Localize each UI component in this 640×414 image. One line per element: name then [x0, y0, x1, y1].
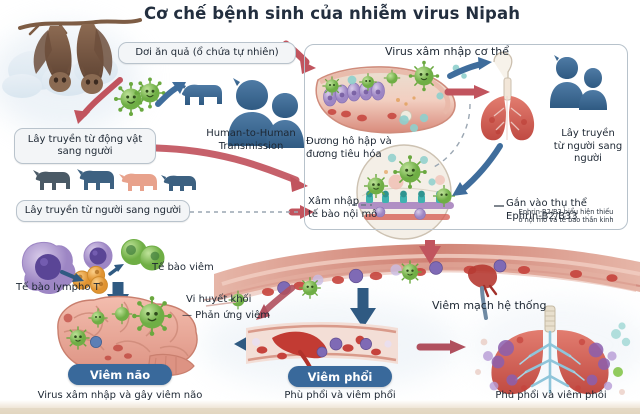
farm-animal-silhouettes — [33, 169, 196, 191]
lungs-icon — [475, 306, 630, 395]
chip-animal-to-human[interactable]: Lây truyền từ động vật sang người — [14, 128, 156, 164]
red-arrow-icon — [420, 340, 466, 354]
endothelial-invasion-label: Xâm nhập tế bào nội mô — [308, 196, 404, 221]
endo-line1: Xâm nhập — [308, 196, 404, 209]
inflammatory-reaction-label: — Phản ứng viêm — [182, 310, 292, 323]
resp-line1: Đương hô hập và — [306, 136, 416, 149]
microthrombi-label: Vi huyết khối — [186, 294, 276, 307]
virus-particle-icon — [114, 78, 166, 117]
badge-pneumonia[interactable]: Viêm phổi — [288, 366, 392, 387]
chip-bat-reservoir[interactable]: Dơi ăn quả (ổ chứa tự nhiên) — [118, 42, 296, 64]
human-to-human-transmission-label: Human-to-Human Transmission — [186, 128, 316, 153]
receptor-note-line1: Ephrin-B2/B3 biểu hiện thiếu — [496, 208, 636, 216]
h2h-line1: Human-to-Human — [186, 128, 316, 141]
chip-human-to-human[interactable]: Lây truyền từ người sang người — [16, 200, 190, 222]
page-title: Cơ chế bệnh sinh của nhiễm virus Nipah — [132, 4, 532, 24]
systemic-vasculitis-label: Viêm mạch hệ thống — [432, 300, 572, 313]
cow-silhouette-icon — [180, 83, 222, 105]
infographic-canvas: Cơ chế bệnh sinh của nhiễm virus Nipah D… — [0, 0, 640, 414]
p2p-line1: Lây truyền — [546, 128, 630, 141]
receptor-note-line2: ở nội mô và tế bào thần kinh — [496, 216, 636, 224]
p2p-line2: từ người sang — [546, 141, 630, 154]
person-to-person-label: Lây truyền từ người sang người — [546, 128, 630, 166]
blue-arrow-icon — [350, 288, 376, 328]
bottom-strip-accent — [0, 408, 640, 414]
receptor-note: Ephrin-B2/B3 biểu hiện thiếu ở nội mô và… — [496, 208, 636, 224]
resp-line2: đương tiêu hóa — [306, 149, 416, 162]
inflammatory-cell-label: Tế bào viêm — [152, 262, 242, 275]
p2p-line3: người — [546, 153, 630, 166]
badge-encephalitis[interactable]: Viêm não — [68, 364, 172, 385]
inflamed-vessel-icon — [246, 322, 398, 372]
lymphocyte-cell-icon — [84, 242, 112, 270]
blue-arrow-icon — [110, 264, 124, 274]
t-lymphocyte-label: Tế bào lympho T — [16, 282, 126, 295]
endo-line2: tế bào nội mô — [308, 209, 404, 222]
panel-header-label: Virus xâm nhập cơ thể — [352, 46, 542, 59]
h2h-line2: Transmission — [186, 141, 316, 154]
respiratory-gi-label: Đương hô hập và đương tiêu hóa — [306, 136, 416, 161]
